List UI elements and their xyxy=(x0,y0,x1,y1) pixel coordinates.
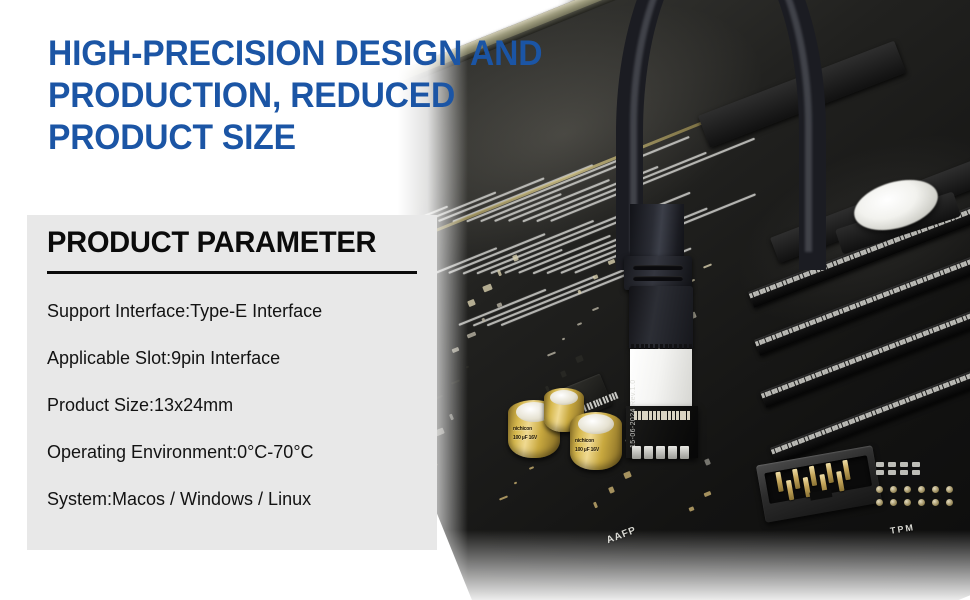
connector-revision-silkscreen: 15-06-2024 Rev.1.0 xyxy=(630,398,692,448)
headline-line-3: PRODUCT SIZE xyxy=(48,117,605,159)
headline-line-2: PRODUCTION, REDUCED xyxy=(48,75,605,117)
headline-line-1: HIGH-PRECISION DESIGN AND xyxy=(48,33,605,75)
capacitor-rating: 100 µF 16V xyxy=(575,447,599,453)
capacitor-brand: nichicon xyxy=(575,438,594,444)
capacitor-brand: nichicon xyxy=(513,426,532,432)
spec-item: System:Macos / Windows / Linux xyxy=(47,488,427,510)
panel-title: PRODUCT PARAMETER xyxy=(47,226,376,260)
spec-item: Operating Environment:0°C-70°C xyxy=(47,441,427,463)
ribbon-cable-clip xyxy=(624,256,692,290)
spec-item: Applicable Slot:9pin Interface xyxy=(47,347,427,369)
spec-item: Product Size:13x24mm xyxy=(47,394,427,416)
banner-stage: nichicon 100 µF 16V nichicon 100 µF 16V … xyxy=(0,0,970,600)
page-headline: HIGH-PRECISION DESIGN AND PRODUCTION, RE… xyxy=(48,33,605,159)
spec-item: Support Interface:Type-E Interface xyxy=(47,300,427,322)
connector-solder-pads xyxy=(632,446,690,459)
photo-bottom-fade xyxy=(398,530,970,600)
clip-groove xyxy=(633,276,683,281)
spec-list: Support Interface:Type-E Interface Appli… xyxy=(47,300,427,510)
capacitor-rating: 100 µF 16V xyxy=(513,435,537,441)
tpm-pad-row xyxy=(876,462,962,478)
panel-title-underline xyxy=(47,271,417,274)
tpm-solder-pads xyxy=(876,486,962,514)
connector-shroud xyxy=(629,286,693,348)
capacitor: nichicon 100 µF 16V xyxy=(570,412,622,470)
clip-groove xyxy=(633,265,683,270)
